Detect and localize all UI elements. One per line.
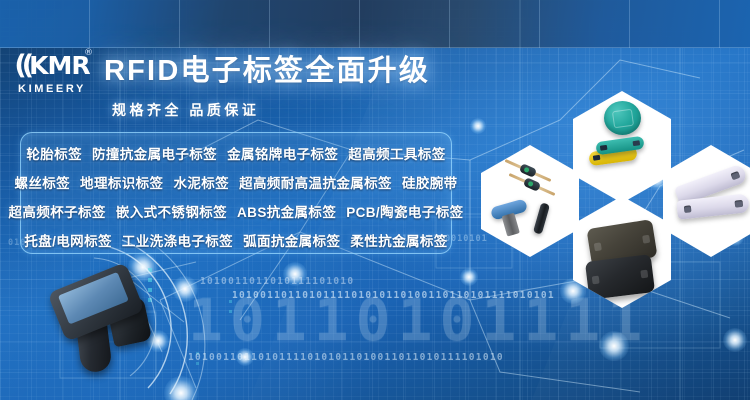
tag-row: 托盘/电网标签 工业洗涤电子标签 弧面抗金属标签 柔性抗金属标签 <box>21 225 451 254</box>
tag-item[interactable]: PCB/陶瓷电子标签 <box>346 201 463 221</box>
logo-wave-icon: (( <box>14 50 29 81</box>
bar-chip-icon <box>600 145 608 151</box>
tag-mount-hole <box>735 200 744 208</box>
tag-item[interactable]: 托盘/电网标签 <box>24 230 112 250</box>
tag-notch <box>640 270 648 279</box>
tag-item[interactable]: 嵌入式不锈钢标签 <box>116 201 227 221</box>
tag-item[interactable]: 防撞抗金属电子标签 <box>92 143 217 163</box>
binary-text-upper: 1010011011010111101010 <box>200 276 354 287</box>
tag-item[interactable]: 超高频杯子标签 <box>9 201 106 221</box>
tag-item[interactable]: 轮胎标签 <box>26 143 82 163</box>
glass-rod-chip <box>519 163 537 178</box>
binary-text-mid: 1010011011010111101010110100110110101111… <box>232 290 555 301</box>
page-subtitle: 规格齐全 品质保证 <box>112 100 259 120</box>
tag-item[interactable]: 水泥标签 <box>173 172 229 192</box>
tag-mount-hole <box>684 205 692 213</box>
tag-item[interactable]: 地理标识标签 <box>80 172 163 192</box>
tag-row: 螺丝标签 地理标识标签 水泥标签 超高频耐高温抗金属标签 硅胶腕带 <box>21 167 451 196</box>
handheld-rfid-reader[interactable] <box>24 272 156 386</box>
product-hex-right[interactable] <box>663 145 750 257</box>
tag-item[interactable]: 金属铭牌电子标签 <box>227 143 338 163</box>
tag-mount-hole <box>730 171 740 180</box>
tag-item[interactable]: 超高频工具标签 <box>348 143 445 163</box>
tag-notch <box>642 235 650 244</box>
tag-item[interactable]: 弧面抗金属标签 <box>243 230 340 250</box>
glow-node <box>723 328 747 352</box>
ceramic-cylinder-tag <box>533 202 550 234</box>
tag-item[interactable]: 工业洗涤电子标签 <box>122 230 233 250</box>
product-tag-list: 轮胎标签 防撞抗金属电子标签 金属铭牌电子标签 超高频工具标签 螺丝标签 地理标… <box>20 132 452 254</box>
screw-tag <box>490 198 528 220</box>
header-divider <box>0 47 750 48</box>
product-hex-left[interactable] <box>481 145 579 257</box>
page-title: RFID电子标签全面升级 <box>104 52 430 90</box>
tag-item[interactable]: 超高频耐高温抗金属标签 <box>239 172 392 192</box>
tag-item[interactable]: 螺丝标签 <box>14 172 70 192</box>
glow-node <box>460 268 478 286</box>
logo-mark: ((KMR ® <box>10 52 94 80</box>
tag-item[interactable]: 硅胶腕带 <box>402 172 458 192</box>
header-band <box>0 0 750 48</box>
bar-chip-icon <box>633 140 641 146</box>
tag-item[interactable]: 柔性抗金属标签 <box>350 230 447 250</box>
tag-row: 轮胎标签 防撞抗金属电子标签 金属铭牌电子标签 超高频工具标签 <box>21 138 451 167</box>
bar-chip-icon <box>593 155 601 161</box>
tag-row: 超高频杯子标签 嵌入式不锈钢标签 ABS抗金属标签 PCB/陶瓷电子标签 <box>21 196 451 225</box>
rfid-promo-banner: 10110101111 1010011011010111101010 10100… <box>0 0 750 400</box>
glow-node <box>470 118 486 134</box>
brand-logo[interactable]: ((KMR ® KIMEERY <box>10 52 94 108</box>
registered-trademark-icon: ® <box>84 49 92 58</box>
tag-item[interactable]: ABS抗金属标签 <box>237 201 336 221</box>
tag-notch <box>594 242 602 251</box>
logo-company-name: KIMEERY <box>10 83 94 96</box>
disc-anti-metal-tag <box>604 101 641 135</box>
product-hex-top[interactable] <box>573 91 671 203</box>
logo-mark-text: KMR <box>29 51 90 80</box>
screw-body <box>502 213 520 237</box>
glow-node <box>164 376 198 400</box>
glass-rod-chip <box>523 177 541 192</box>
binary-text-lower: 1010011011010111101010110100110110101111… <box>188 352 504 363</box>
tag-notch <box>592 276 600 285</box>
